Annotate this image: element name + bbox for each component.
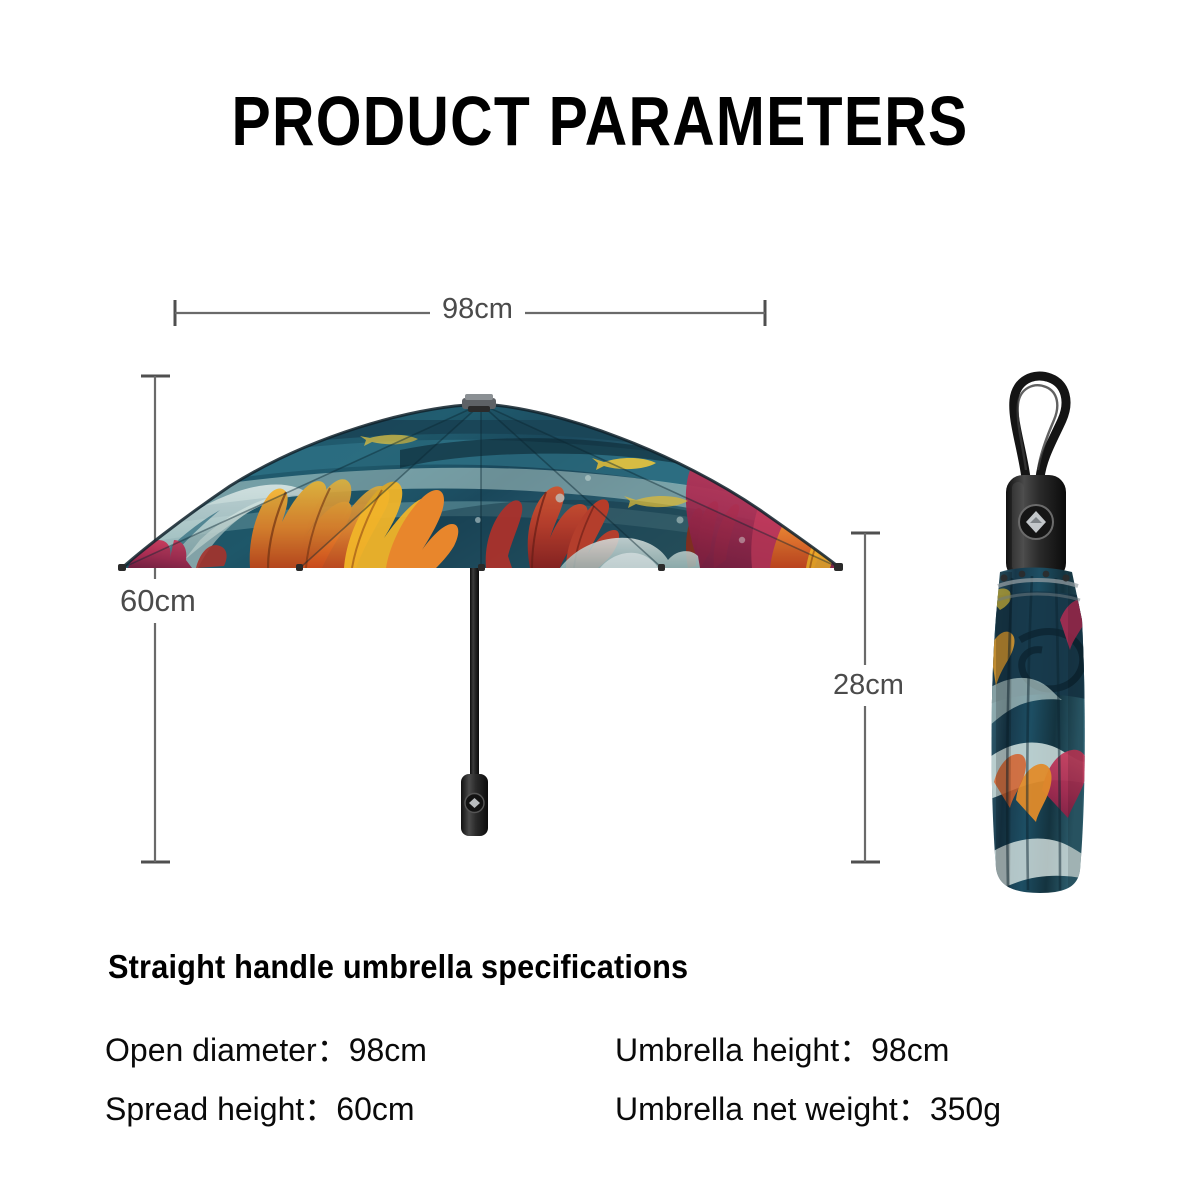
specs-table: Open diameter：98cm Umbrella height：98cm …: [105, 1025, 1105, 1143]
spec-umbrella-height-label: Umbrella height：: [615, 1032, 871, 1068]
spec-net-weight-value: 350g: [930, 1091, 1001, 1127]
umbrella-shaft: [470, 560, 479, 790]
spec-net-weight-label: Umbrella net weight：: [615, 1091, 930, 1127]
spec-row: Open diameter：98cm Umbrella height：98cm: [105, 1025, 1105, 1084]
spec-umbrella-height: Umbrella height：98cm: [615, 1025, 1105, 1071]
spec-spread-height-value: 60cm: [336, 1091, 414, 1127]
spec-open-diameter: Open diameter：98cm: [105, 1025, 615, 1071]
spec-open-diameter-value: 98cm: [349, 1032, 427, 1068]
dimension-label-open-diameter: 98cm: [430, 293, 525, 326]
spec-umbrella-height-value: 98cm: [871, 1032, 949, 1068]
folded-handle: [1006, 475, 1066, 580]
dimension-label-folded-height: 28cm: [831, 665, 906, 706]
spec-open-diameter-label: Open diameter：: [105, 1032, 349, 1068]
dimension-label-spread-height: 60cm: [118, 579, 198, 623]
spec-spread-height-label: Spread height：: [105, 1091, 336, 1127]
folded-umbrella: [986, 376, 1090, 894]
umbrella-grip: [461, 774, 488, 836]
open-umbrella: [118, 394, 845, 836]
spec-row: Spread height：60cm Umbrella net weight：3…: [105, 1084, 1105, 1143]
specs-heading: Straight handle umbrella specifications: [108, 948, 688, 986]
product-parameters-page: PRODUCT PARAMETERS: [0, 0, 1200, 1200]
spec-net-weight: Umbrella net weight：350g: [615, 1084, 1105, 1130]
spec-spread-height: Spread height：60cm: [105, 1084, 615, 1130]
